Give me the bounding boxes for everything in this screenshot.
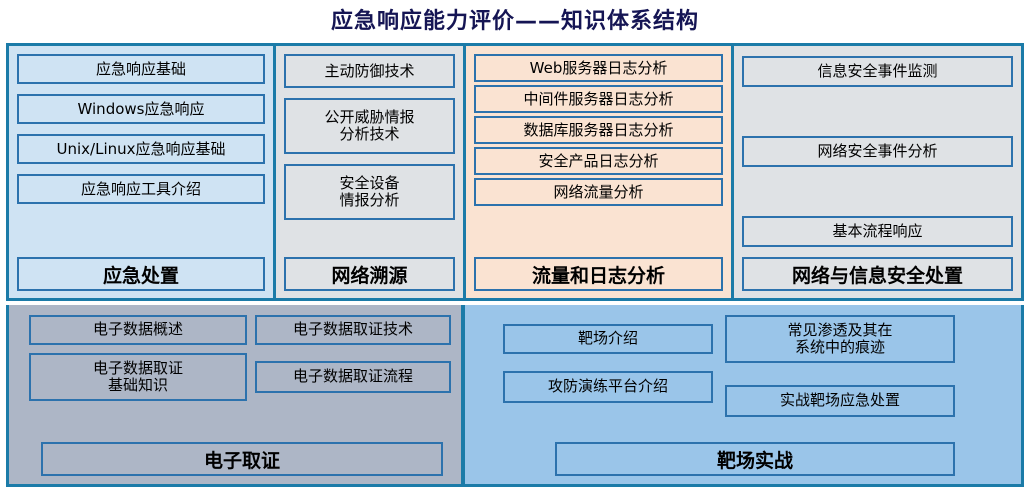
panel-1-row: 电子数据概述 电子数据取证技术 [19, 315, 451, 345]
panel-1-items: 电子数据概述 电子数据取证技术 电子数据取证 基础知识 电子数据取证流程 [19, 315, 451, 436]
column-4-items: 信息安全事件监测 网络安全事件分析 基本流程响应 [742, 54, 1013, 253]
column-network-info-security-handling: 信息安全事件监测 网络安全事件分析 基本流程响应 网络与信息安全处置 [731, 46, 1021, 298]
column-header[interactable]: 流量和日志分析 [474, 257, 723, 291]
panel-1-row: 电子数据取证 基础知识 电子数据取证流程 [19, 353, 451, 401]
node-item[interactable]: 应急响应基础 [17, 54, 265, 84]
node-item[interactable]: 电子数据取证 基础知识 [29, 353, 247, 401]
node-item[interactable]: 网络安全事件分析 [742, 136, 1013, 167]
column-2-items: 主动防御技术 公开威胁情报 分析技术 安全设备 情报分析 [284, 54, 455, 247]
node-item[interactable]: 安全设备 情报分析 [284, 164, 455, 220]
knowledge-structure-board: 应急响应基础 Windows应急响应 Unix/Linux应急响应基础 应急响应… [6, 43, 1024, 487]
column-traffic-log-analysis: Web服务器日志分析 中间件服务器日志分析 数据库服务器日志分析 安全产品日志分… [463, 46, 731, 298]
node-item[interactable]: 实战靶场应急处置 [725, 385, 955, 417]
node-item[interactable]: 基本流程响应 [742, 216, 1013, 247]
page-title: 应急响应能力评价——知识体系结构 [0, 0, 1030, 43]
panel-digital-forensics: 电子数据概述 电子数据取证技术 电子数据取证 基础知识 电子数据取证流程 电子取… [9, 305, 461, 484]
panel-2-row: 攻防演练平台介绍 实战靶场应急处置 [475, 371, 1011, 417]
column-1-items: 应急响应基础 Windows应急响应 Unix/Linux应急响应基础 应急响应… [17, 54, 265, 247]
node-item[interactable]: 电子数据概述 [29, 315, 247, 345]
panel-header[interactable]: 靶场实战 [555, 442, 955, 476]
top-row: 应急响应基础 Windows应急响应 Unix/Linux应急响应基础 应急响应… [6, 43, 1024, 301]
node-item[interactable]: Unix/Linux应急响应基础 [17, 134, 265, 164]
column-header[interactable]: 网络溯源 [284, 257, 455, 291]
node-item[interactable]: 安全产品日志分析 [474, 147, 723, 175]
bottom-row: 电子数据概述 电子数据取证技术 电子数据取证 基础知识 电子数据取证流程 电子取… [6, 305, 1024, 487]
node-item[interactable]: 公开威胁情报 分析技术 [284, 98, 455, 154]
node-item[interactable]: Web服务器日志分析 [474, 54, 723, 82]
panel-2-items: 靶场介绍 常见渗透及其在 系统中的痕迹 攻防演练平台介绍 实战靶场应急处置 [475, 315, 1011, 438]
column-header[interactable]: 网络与信息安全处置 [742, 257, 1013, 291]
node-item[interactable]: 电子数据取证技术 [255, 315, 451, 345]
node-item[interactable]: 靶场介绍 [503, 324, 713, 354]
panel-cyber-range-practice: 靶场介绍 常见渗透及其在 系统中的痕迹 攻防演练平台介绍 实战靶场应急处置 靶场… [461, 305, 1021, 484]
node-item[interactable]: 常见渗透及其在 系统中的痕迹 [725, 315, 955, 363]
column-emergency-handling: 应急响应基础 Windows应急响应 Unix/Linux应急响应基础 应急响应… [9, 46, 273, 298]
node-item[interactable]: 网络流量分析 [474, 178, 723, 206]
node-item[interactable]: Windows应急响应 [17, 94, 265, 124]
column-header[interactable]: 应急处置 [17, 257, 265, 291]
panel-header[interactable]: 电子取证 [41, 442, 443, 476]
node-item[interactable]: 主动防御技术 [284, 54, 455, 88]
column-network-tracing: 主动防御技术 公开威胁情报 分析技术 安全设备 情报分析 网络溯源 [273, 46, 463, 298]
node-item[interactable]: 中间件服务器日志分析 [474, 85, 723, 113]
node-item[interactable]: 电子数据取证流程 [255, 361, 451, 393]
node-item[interactable]: 应急响应工具介绍 [17, 174, 265, 204]
node-item[interactable]: 攻防演练平台介绍 [503, 371, 713, 403]
panel-2-row: 靶场介绍 常见渗透及其在 系统中的痕迹 [475, 315, 1011, 363]
node-item[interactable]: 数据库服务器日志分析 [474, 116, 723, 144]
node-item[interactable]: 信息安全事件监测 [742, 56, 1013, 87]
column-3-items: Web服务器日志分析 中间件服务器日志分析 数据库服务器日志分析 安全产品日志分… [474, 54, 723, 245]
